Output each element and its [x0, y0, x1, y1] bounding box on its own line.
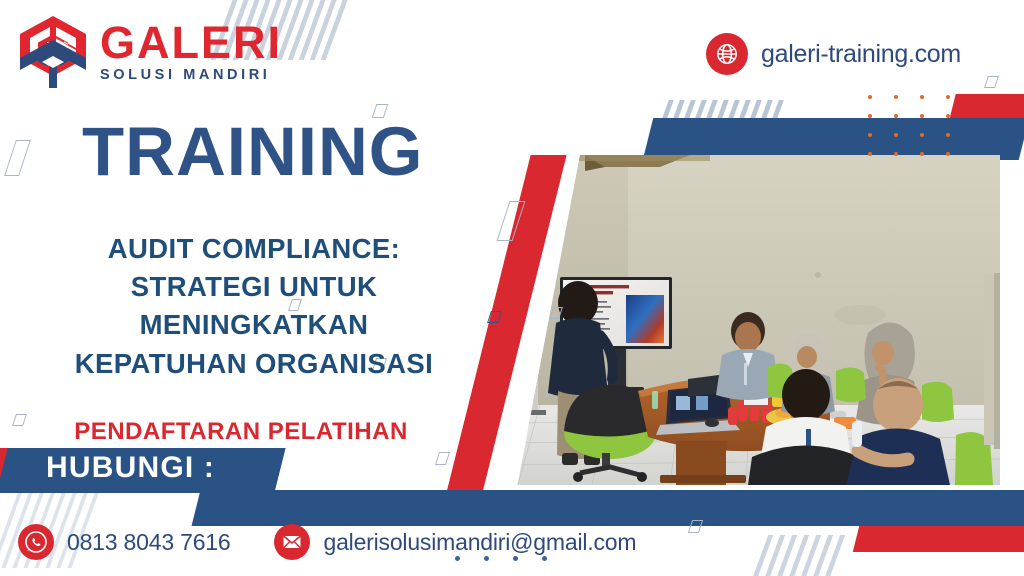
logo-tagline: SOLUSI MANDIRI: [100, 67, 282, 83]
phone-number[interactable]: 0813 8043 7616: [67, 529, 230, 556]
globe-icon: [706, 33, 748, 75]
training-photo: [500, 155, 1000, 485]
parallelogram-outline-decor-3: [497, 201, 526, 241]
blue-band-top-decor: [643, 118, 1024, 160]
brand-logo: GALERI SOLUSI MANDIRI: [16, 14, 282, 90]
parallelogram-outline-decor-8: [435, 452, 450, 465]
registration-label: PENDAFTARAN PELATIHAN: [24, 418, 458, 446]
parallelogram-outline-decor-4: [487, 311, 502, 323]
contact-row: 0813 8043 7616 galerisolusimandiri@gmail…: [18, 524, 636, 560]
course-subtitle: AUDIT COMPLIANCE: STRATEGI UNTUK MENINGK…: [24, 230, 484, 383]
training-photo-illustration: [500, 155, 1000, 485]
poster-canvas: GALERI SOLUSI MANDIRI galeri-training.co…: [0, 0, 1024, 576]
envelope-glyph: [280, 530, 304, 554]
page-title: TRAINING: [82, 117, 423, 186]
globe-glyph: [714, 41, 740, 67]
subtitle-line-3: MENINGKATKAN: [24, 306, 484, 344]
parallelogram-outline-decor-2: [4, 140, 31, 176]
galeri-hexagon-gs-logo-icon: [16, 14, 90, 90]
email-address[interactable]: galerisolusimandiri@gmail.com: [323, 529, 636, 556]
logo-wordmark: GALERI SOLUSI MANDIRI: [100, 21, 282, 83]
subtitle-line-1: AUDIT COMPLIANCE:: [24, 230, 484, 268]
subtitle-line-2: STRATEGI UNTUK: [24, 268, 484, 306]
contact-banner-label: HUBUNGI :: [46, 451, 215, 485]
website-row[interactable]: galeri-training.com: [706, 33, 961, 75]
red-band-bottom-decor: [853, 526, 1024, 552]
website-url[interactable]: galeri-training.com: [761, 40, 961, 69]
diagonal-stripes-photo-decor: [663, 100, 778, 132]
parallelogram-outline-decor-11: [688, 520, 703, 533]
diagonal-stripes-bottom-right-decor: [758, 535, 835, 576]
red-block-top-right-decor: [948, 94, 1024, 124]
whatsapp-glyph: [24, 530, 48, 554]
logo-svg: [16, 14, 90, 90]
parallelogram-outline-decor-10: [984, 76, 999, 88]
logo-name: GALERI: [100, 21, 282, 65]
envelope-icon[interactable]: [274, 524, 310, 560]
blue-band-bottom-decor: [192, 490, 1024, 526]
subtitle-line-4: KEPATUHAN ORGANISASI: [24, 345, 484, 383]
whatsapp-icon[interactable]: [18, 524, 54, 560]
